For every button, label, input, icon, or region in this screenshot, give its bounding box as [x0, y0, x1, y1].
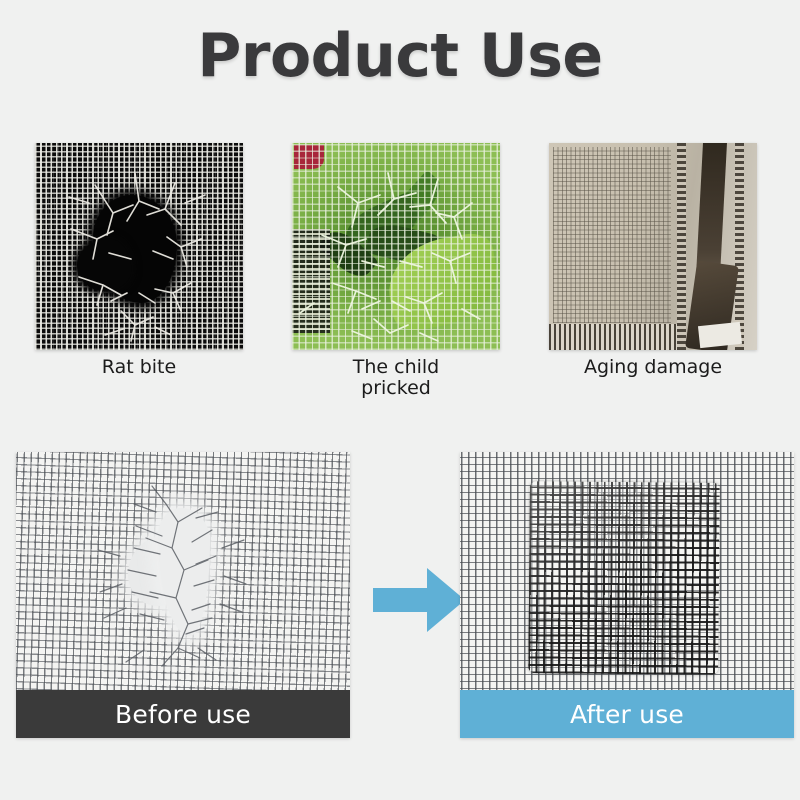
frame-bead-column: [735, 143, 744, 350]
damage-photo-child-pricked: [292, 143, 500, 350]
page-title: Product Use: [0, 26, 800, 86]
frame-bead-column: [677, 143, 686, 350]
damage-caption-line1: The child: [252, 357, 540, 378]
repair-patch: [528, 481, 720, 675]
before-label-text: Before use: [115, 700, 251, 729]
damage-caption-line2: pricked: [252, 378, 540, 399]
damage-examples-row: Rat bite: [35, 143, 757, 350]
before-photo: [16, 452, 350, 690]
damage-caption-child-pricked: The child pricked: [252, 357, 540, 400]
after-photo: [460, 452, 794, 690]
before-label-bar: Before use: [16, 690, 350, 738]
white-chip: [698, 322, 742, 348]
frayed-fibers: [35, 143, 243, 350]
lower-mesh-strip: [549, 324, 677, 350]
after-label-text: After use: [570, 700, 684, 729]
damage-photo-rat-bite: [35, 143, 243, 350]
damage-photo-aging: [549, 143, 757, 350]
damage-caption-aging: Aging damage: [509, 357, 797, 378]
patch-sheen: [528, 481, 720, 675]
before-panel[interactable]: Before use: [16, 452, 350, 738]
damage-card-child-pricked[interactable]: The child pricked: [292, 143, 500, 350]
after-label-bar: After use: [460, 690, 794, 738]
after-panel[interactable]: After use: [460, 452, 794, 738]
damage-card-rat-bite[interactable]: Rat bite: [35, 143, 243, 350]
damage-card-aging[interactable]: Aging damage: [549, 143, 757, 350]
right-arrow-icon: [371, 564, 467, 636]
aged-mesh-texture: [553, 147, 671, 323]
damage-caption-rat-bite: Rat bite: [0, 357, 283, 378]
frayed-fibers: [292, 143, 500, 350]
tear-fibers: [16, 452, 350, 690]
before-after-comparison: Before use After use: [16, 452, 784, 738]
